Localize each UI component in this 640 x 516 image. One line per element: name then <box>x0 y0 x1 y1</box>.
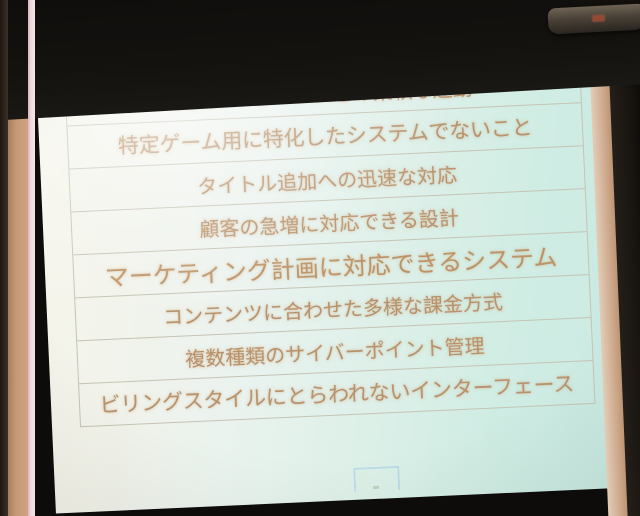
requirements-table: 会員データベースとの柔軟な連動 特定ゲーム用に特化したシステムでないこと タイト… <box>64 59 595 427</box>
requirement-text: 顧客の急増に対応できる設計 <box>199 201 460 242</box>
wall-left-shadow <box>0 0 8 516</box>
projection-screen-photo: 備えておきたい機能と条件 II 会員データベースとの柔軟な連動 特定ゲーム用に特… <box>0 0 640 516</box>
screen-left-edge-fringe <box>28 0 35 516</box>
slide-footer-mark <box>373 486 379 489</box>
requirement-text: 複数種類のサイバーポイント管理 <box>185 329 486 372</box>
requirement-text: タイトル追加への迅速な対応 <box>197 158 458 199</box>
requirement-text: コンテンツに合わせた多様な課金方式 <box>162 286 503 330</box>
screen-roller-housing <box>547 4 640 35</box>
roller-label-mark <box>592 15 605 23</box>
